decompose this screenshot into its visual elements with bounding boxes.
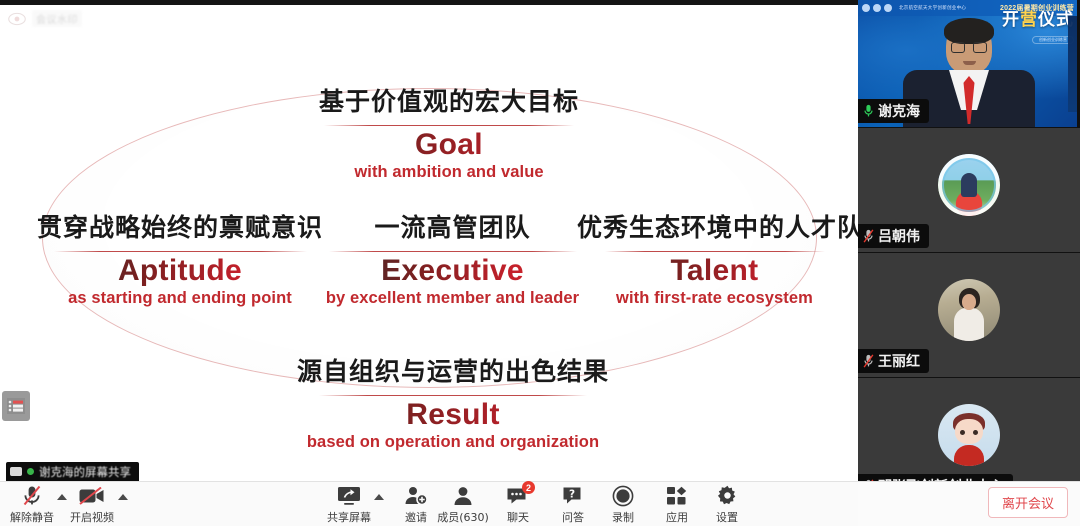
settings-button-label: 设置 xyxy=(716,509,738,525)
tile-name-text: 谢克海 xyxy=(878,101,920,121)
share-screen-button-label: 共享屏幕 xyxy=(327,509,371,525)
participants-button-label: 成员(630) xyxy=(437,509,489,525)
video-tile-participant[interactable]: 王丽红 xyxy=(858,253,1080,378)
slide-block-talent-title: Talent xyxy=(577,254,852,288)
participant-filmstrip[interactable]: 北京航空航天大学创新创业中心 2022届暑期创业训练营 开营仪式 创新创业训练营 xyxy=(858,0,1080,526)
tile-name-text: 王丽红 xyxy=(878,351,920,371)
slide-block-result-sub: based on operation and organization xyxy=(253,433,653,452)
slide-block-aptitude-sub: as starting and ending point xyxy=(30,289,330,308)
org-logo-icon xyxy=(862,4,870,12)
slide-block-talent-rule xyxy=(605,251,825,252)
leave-meeting-button[interactable]: 离开会议 xyxy=(988,487,1068,518)
video-tile-presenter[interactable]: 北京航空航天大学创新创业中心 2022届暑期创业训练营 开营仪式 创新创业训练营 xyxy=(858,0,1080,128)
svg-text:?: ? xyxy=(569,488,575,500)
slide-block-aptitude-title: Aptitude xyxy=(30,254,330,288)
sharing-status-dot xyxy=(27,468,34,475)
chat-unread-badge: 2 xyxy=(522,481,535,494)
sharer-name-text: 谢克海的屏幕共享 xyxy=(39,464,131,480)
apps-button[interactable]: 应用 xyxy=(649,485,705,525)
slide-block-goal-rule xyxy=(324,125,574,126)
share-screen-button[interactable]: 共享屏幕 xyxy=(321,485,377,525)
slide-block-executive: 一流高管团队 Executive by excellent member and… xyxy=(310,208,595,308)
mute-button-label: 解除静音 xyxy=(10,509,54,525)
microphone-active-icon xyxy=(863,104,874,118)
start-video-button[interactable]: 开启视频 xyxy=(64,485,120,525)
avatar xyxy=(938,154,1000,216)
chat-bubble-icon: 2 xyxy=(506,485,530,506)
tile-name-badge: 王丽红 xyxy=(858,349,929,373)
sharer-name-label: 谢克海的屏幕共享 xyxy=(6,462,139,481)
camera-off-icon xyxy=(79,485,105,506)
chat-button[interactable]: 2 聊天 xyxy=(490,485,546,525)
slide-block-goal: 基于价值观的宏大目标 Goal with ambition and value xyxy=(249,82,649,182)
record-button[interactable]: 录制 xyxy=(595,485,651,525)
avatar xyxy=(938,404,1000,466)
record-button-label: 录制 xyxy=(612,509,634,525)
gear-icon xyxy=(717,485,738,506)
participants-button[interactable]: 成员(630) xyxy=(435,485,491,525)
share-options-caret-icon[interactable] xyxy=(374,494,384,500)
presentation-slide: 基于价值观的宏大目标 Goal with ambition and value … xyxy=(0,0,858,481)
chat-button-label: 聊天 xyxy=(507,509,529,525)
org-name-text: 北京航空航天大学创新创业中心 xyxy=(899,5,966,11)
question-bubble-icon: ? xyxy=(562,485,584,506)
slide-block-executive-title: Executive xyxy=(310,254,595,288)
tile-name-badge: 谢克海 xyxy=(858,99,929,123)
slide-block-goal-sub: with ambition and value xyxy=(249,163,649,182)
share-screen-icon xyxy=(336,485,362,506)
slide-block-talent-sub: with first-rate ecosystem xyxy=(577,289,852,308)
record-circle-icon xyxy=(612,485,634,506)
invite-button-label: 邀请 xyxy=(405,509,427,525)
slide-block-goal-zh: 基于价值观的宏大目标 xyxy=(249,82,649,118)
slide-block-executive-rule xyxy=(329,251,577,252)
microphone-muted-icon xyxy=(863,354,874,368)
slide-block-talent-zh: 优秀生态环境中的人才队伍 xyxy=(577,208,852,244)
slide-block-aptitude-zh: 贯穿战略始终的禀赋意识 xyxy=(30,208,330,244)
camera-icon xyxy=(10,467,22,476)
avatar-face xyxy=(962,294,977,310)
avatar-body xyxy=(954,445,984,466)
presenter-head xyxy=(946,22,992,74)
presenter-hair xyxy=(944,18,994,44)
mute-button[interactable]: 解除静音 xyxy=(4,485,60,525)
start-video-button-label: 开启视频 xyxy=(70,509,114,525)
slide-block-result: 源自组织与运营的出色结果 Result based on operation a… xyxy=(253,352,653,452)
slide-block-result-rule xyxy=(319,395,587,396)
apps-grid-icon xyxy=(666,485,688,506)
org-logo-icon xyxy=(873,4,881,12)
qa-button-label: 问答 xyxy=(562,509,584,525)
slide-block-aptitude-rule xyxy=(54,251,307,252)
slide-block-result-zh: 源自组织与运营的出色结果 xyxy=(253,352,653,388)
slide-block-result-title: Result xyxy=(253,398,653,432)
qa-button[interactable]: ? 问答 xyxy=(545,485,601,525)
list-panel-icon xyxy=(7,398,25,414)
invite-user-icon xyxy=(404,485,428,506)
slide-block-talent: 优秀生态环境中的人才队伍 Talent with first-rate ecos… xyxy=(577,208,852,308)
participants-icon xyxy=(452,485,474,506)
slide-block-goal-title: Goal xyxy=(249,128,649,162)
microphone-muted-icon xyxy=(22,485,42,506)
glasses-icon xyxy=(951,42,987,53)
avatar-eye xyxy=(973,430,978,435)
avatar-ring xyxy=(938,154,1000,216)
presenter-mouth xyxy=(963,61,976,65)
video-options-caret-icon[interactable] xyxy=(118,494,128,500)
meeting-window: 会议水印 基于价值观的宏大目标 Goal with ambition and v… xyxy=(0,0,1080,526)
video-tile-participant[interactable]: 吕朝伟 xyxy=(858,128,1080,253)
slide-block-aptitude: 贯穿战略始终的禀赋意识 Aptitude as starting and end… xyxy=(30,208,330,308)
participant-list-toggle[interactable] xyxy=(2,391,30,421)
tile-name-text: 吕朝伟 xyxy=(878,226,920,246)
shared-screen-view[interactable]: 会议水印 基于价值观的宏大目标 Goal with ambition and v… xyxy=(0,0,858,481)
avatar xyxy=(938,279,1000,341)
slide-block-executive-sub: by excellent member and leader xyxy=(310,289,595,308)
org-logo-icon xyxy=(884,4,892,12)
meeting-toolbar: 解除静音 开启视频 共享屏幕 xyxy=(0,481,858,526)
microphone-muted-icon xyxy=(863,229,874,243)
slide-block-executive-zh: 一流高管团队 xyxy=(310,208,595,244)
apps-button-label: 应用 xyxy=(666,509,688,525)
tile-name-badge: 吕朝伟 xyxy=(858,224,929,248)
settings-button[interactable]: 设置 xyxy=(699,485,755,525)
